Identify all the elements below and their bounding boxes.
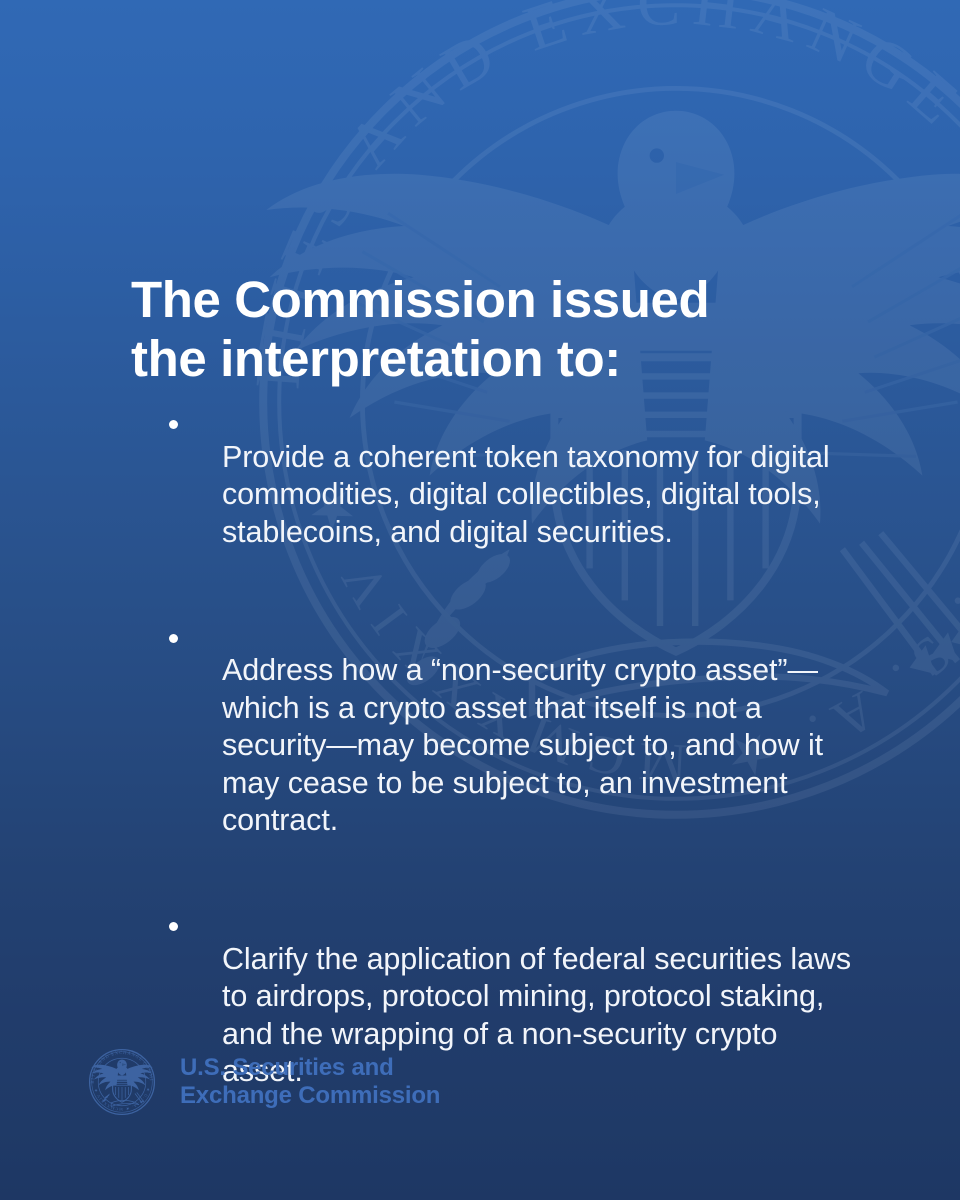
- page-title: The Commission issued the interpretation…: [131, 270, 871, 388]
- list-item: Provide a coherent token taxonomy for di…: [160, 408, 860, 582]
- footer-wordmark-line-1: U.S. Securities and: [180, 1054, 440, 1082]
- bullet-dot-icon: [160, 622, 222, 643]
- footer-brand: SECURITIES AND EXCHANGE COMMISSION ★ U. …: [86, 1046, 440, 1118]
- list-item: Address how a “non-security crypto asset…: [160, 622, 860, 871]
- headline-line-2: the interpretation to:: [131, 329, 871, 388]
- list-item-text: Address how a “non-security crypto asset…: [222, 652, 860, 840]
- social-card: SECURITIES AND EXCHANGE COMMISSION ★ U. …: [0, 0, 960, 1200]
- bullet-dot-icon: [160, 408, 222, 429]
- list-item-text: Provide a coherent token taxonomy for di…: [222, 439, 860, 552]
- footer-wordmark-line-2: Exchange Commission: [180, 1082, 440, 1110]
- sec-seal-icon: SECURITIES AND EXCHANGE COMMISSION ★ U. …: [86, 1046, 158, 1118]
- bullet-list: Provide a coherent token taxonomy for di…: [160, 408, 860, 1121]
- bullet-dot-icon: [160, 910, 222, 931]
- footer-wordmark: U.S. Securities and Exchange Commission: [180, 1054, 440, 1110]
- headline-line-1: The Commission issued: [131, 270, 871, 329]
